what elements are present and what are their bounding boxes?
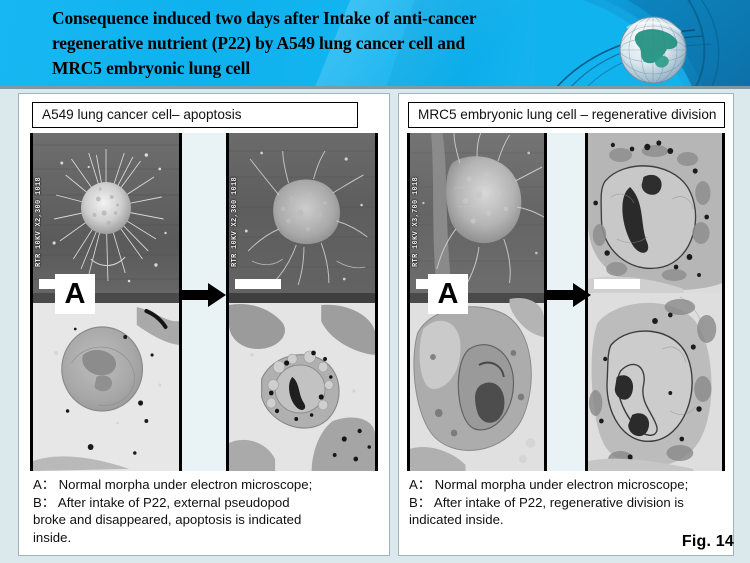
figure-block-a549: RTR 10KV X2,300 1018 xyxy=(30,133,378,471)
micrograph-a549-b-tem xyxy=(229,293,375,471)
caption-line: A： Normal morpha under electron microsco… xyxy=(33,476,383,494)
caption-line: B： After intake of P22, external pseudop… xyxy=(33,494,383,512)
image-column-mrc5-b: B xyxy=(585,133,725,471)
sem-image-mrc5-normal xyxy=(410,133,544,293)
tem-image-a549-normal xyxy=(33,293,179,471)
right-arrow-icon-right xyxy=(545,282,591,308)
micrograph-a549-a-sem: RTR 10KV X2,300 1018 xyxy=(33,133,179,293)
image-label-a-left: A xyxy=(55,274,95,314)
caption-mrc5: A： Normal morpha under electron microsco… xyxy=(399,476,733,529)
page-title: Consequence induced two days after Intak… xyxy=(52,6,572,81)
panel-a549: A549 lung cancer cell– apoptosis xyxy=(18,93,390,556)
micrograph-a549-b-sem: RTR 10KV X2,300 1018 xyxy=(229,133,375,293)
image-label-a-right: A xyxy=(428,274,468,314)
header-underline xyxy=(0,86,750,89)
sem-image-a549-normal xyxy=(33,133,179,293)
scalebar-mrc5-b xyxy=(594,279,640,289)
panel-title-a549: A549 lung cancer cell– apoptosis xyxy=(32,102,358,128)
micrograph-a549-a-tem xyxy=(33,293,179,471)
title-line-1: Consequence induced two days after Intak… xyxy=(52,6,572,31)
panel-title-mrc5: MRC5 embryonic lung cell – regenerative … xyxy=(408,102,725,128)
scalebar-a549-b xyxy=(235,279,281,289)
micrograph-mrc5-b-tem-top xyxy=(588,133,722,293)
image-column-a549-a: RTR 10KV X2,300 1018 xyxy=(30,133,182,471)
panel-mrc5: MRC5 embryonic lung cell – regenerative … xyxy=(398,93,734,556)
title-line-3: MRC5 embryonic lung cell xyxy=(52,56,572,81)
image-column-mrc5-a: RTR 10KV X3,700 1018 xyxy=(407,133,547,471)
right-arrow-icon-left xyxy=(180,282,226,308)
micrograph-mrc5-b-tem-bottom xyxy=(588,293,722,471)
sem-overlay-text-a549-b: RTR 10KV X2,300 1018 xyxy=(231,147,240,267)
image-column-a549-b: RTR 10KV X2,300 1018 xyxy=(226,133,378,471)
sem-image-a549-apoptotic xyxy=(229,133,375,293)
micrograph-mrc5-a-tem xyxy=(410,293,544,471)
caption-line: indicated inside. xyxy=(409,511,727,529)
caption-line: A： Normal morpha under electron microsco… xyxy=(409,476,727,494)
sem-overlay-text-a549-a: RTR 10KV X2,300 1018 xyxy=(35,147,44,267)
tem-image-mrc5-normal xyxy=(410,293,544,471)
caption-a549: A： Normal morpha under electron microsco… xyxy=(19,476,389,546)
tem-image-mrc5-regenerative xyxy=(588,293,722,471)
title-line-2: regenerative nutrient (P22) by A549 lung… xyxy=(52,31,572,56)
caption-line: broke and disappeared, apoptosis is indi… xyxy=(33,511,383,529)
sem-overlay-text-mrc5-a: RTR 10KV X3,700 1018 xyxy=(412,147,421,267)
micrograph-mrc5-a-sem: RTR 10KV X3,700 1018 xyxy=(410,133,544,293)
tem-image-a549-apoptotic xyxy=(229,293,375,471)
caption-line: B： After intake of P22, regenerative div… xyxy=(409,494,727,512)
slide-header-banner: Consequence induced two days after Intak… xyxy=(0,0,750,89)
figure-number: Fig. 14 xyxy=(682,533,734,551)
tem-image-mrc5-dividing xyxy=(588,133,722,293)
figure-block-mrc5: RTR 10KV X3,700 1018 xyxy=(407,133,725,471)
caption-line: inside. xyxy=(33,529,383,547)
